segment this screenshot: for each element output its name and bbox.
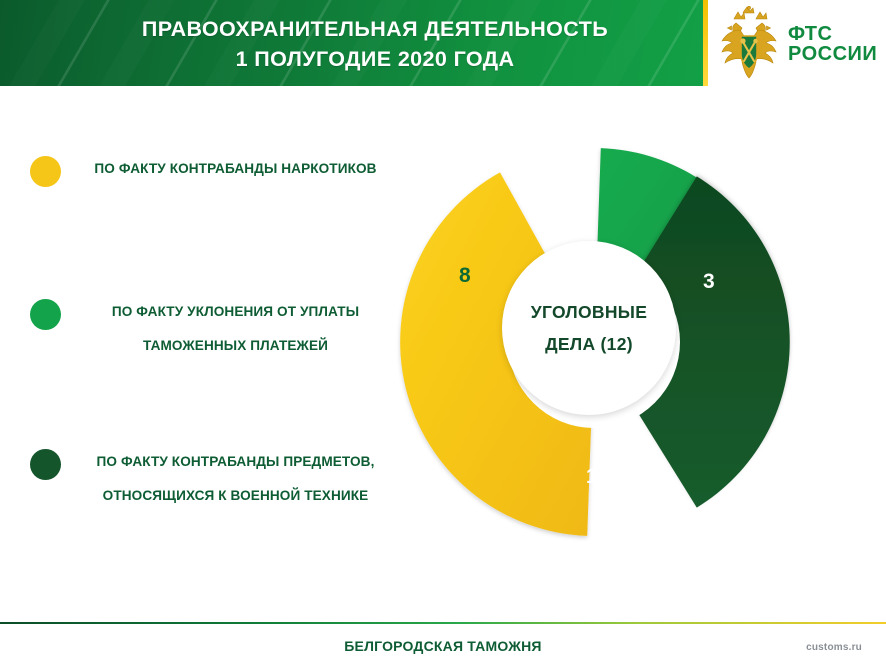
fts-logo-line-1: ФТС: [788, 24, 877, 44]
fts-logo: ФТС РОССИИ: [718, 2, 884, 86]
donut-value-military-goods: 1: [586, 465, 598, 489]
legend-item-drugs[interactable]: ПО ФАКТУ КОНТРАБАНДЫ НАРКОТИКОВ: [30, 152, 410, 187]
fts-logo-line-2: РОССИИ: [788, 44, 877, 64]
slide-canvas: ПРАВООХРАНИТЕЛЬНАЯ ДЕЯТЕЛЬНОСТЬ 1 ПОЛУГО…: [0, 0, 886, 664]
donut-center-line-1: УГОЛОВНЫЕ: [531, 302, 647, 323]
legend-swatch-yellow-icon: [30, 156, 61, 187]
legend-swatch-green-icon: [30, 299, 61, 330]
legend-label-duty-evasion: ПО ФАКТУ УКЛОНЕНИЯ ОТ УПЛАТЫ ТАМОЖЕННЫХ …: [61, 295, 410, 363]
donut-center-label: УГОЛОВНЫЕ ДЕЛА (12): [502, 241, 676, 415]
legend-swatch-dark-green-icon: [30, 449, 61, 480]
page-title-line-2: 1 ПОЛУГОДИЕ 2020 ГОДА: [236, 44, 515, 74]
russian-eagle-emblem-icon: [718, 6, 780, 82]
legend-item-duty-evasion[interactable]: ПО ФАКТУ УКЛОНЕНИЯ ОТ УПЛАТЫ ТАМОЖЕННЫХ …: [30, 295, 410, 363]
page-title: ПРАВООХРАНИТЕЛЬНАЯ ДЕЯТЕЛЬНОСТЬ 1 ПОЛУГО…: [60, 10, 690, 78]
footer-website-url[interactable]: customs.ru: [806, 642, 862, 653]
header-gold-stripe: [703, 0, 708, 86]
slide-footer: БЕЛГОРОДСКАЯ ТАМОЖНЯ customs.ru: [0, 622, 886, 664]
slide-header: ПРАВООХРАНИТЕЛЬНАЯ ДЕЯТЕЛЬНОСТЬ 1 ПОЛУГО…: [0, 0, 886, 88]
legend-label-drugs: ПО ФАКТУ КОНТРАБАНДЫ НАРКОТИКОВ: [61, 152, 410, 186]
fts-logo-text: ФТС РОССИИ: [788, 24, 877, 65]
footer-organization: БЕЛГОРОДСКАЯ ТАМОЖНЯ: [0, 638, 886, 654]
legend-item-military-goods[interactable]: ПО ФАКТУ КОНТРАБАНДЫ ПРЕДМЕТОВ, ОТНОСЯЩИ…: [30, 445, 410, 513]
donut-chart: 8 3 1 УГОЛОВНЫЕ ДЕЛА (12): [398, 146, 790, 538]
page-title-line-1: ПРАВООХРАНИТЕЛЬНАЯ ДЕЯТЕЛЬНОСТЬ: [142, 14, 608, 44]
donut-value-duty-evasion: 3: [703, 270, 715, 294]
donut-value-drugs: 8: [459, 264, 471, 288]
legend-label-military-goods: ПО ФАКТУ КОНТРАБАНДЫ ПРЕДМЕТОВ, ОТНОСЯЩИ…: [61, 445, 410, 513]
footer-divider: [0, 622, 886, 624]
chart-legend: ПО ФАКТУ КОНТРАБАНДЫ НАРКОТИКОВ ПО ФАКТУ…: [30, 140, 410, 570]
donut-center-line-2: ДЕЛА (12): [545, 334, 633, 355]
